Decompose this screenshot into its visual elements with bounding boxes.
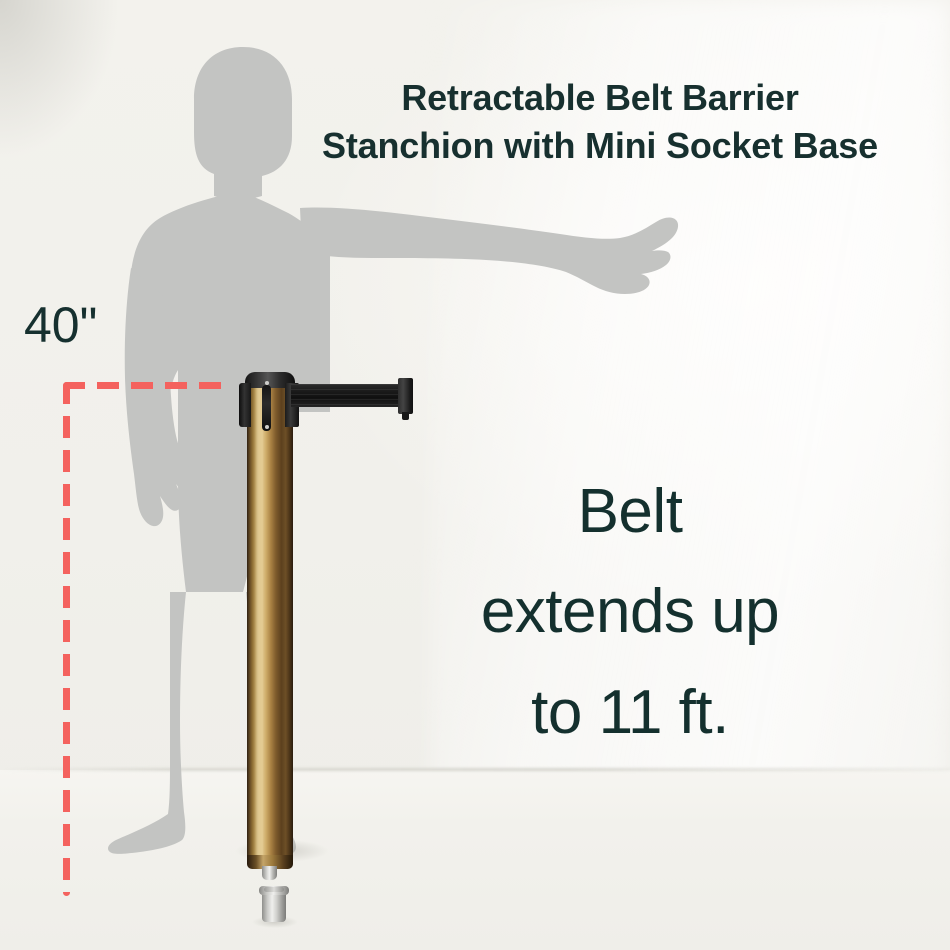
callout-line-3: to 11 ft. [360, 663, 900, 763]
post-highlight [254, 377, 263, 863]
belt-end-clip-tab [402, 412, 409, 420]
belt-cassette-housing-left [239, 383, 251, 427]
cassette-screw-top-icon [265, 381, 269, 385]
retractable-belt-strap [291, 384, 413, 407]
callout-line-2: extends up [360, 562, 900, 662]
mini-socket-base-opening [264, 887, 284, 892]
belt-end-clip [398, 378, 413, 414]
post-mounting-pin [262, 866, 277, 880]
callout-line-1: Belt [360, 462, 900, 562]
product-image-scene: Retractable Belt Barrier Stanchion with … [0, 0, 950, 950]
belt-extension-callout: Belt extends up to 11 ft. [360, 462, 900, 763]
cassette-screw-bottom-icon [265, 425, 269, 429]
